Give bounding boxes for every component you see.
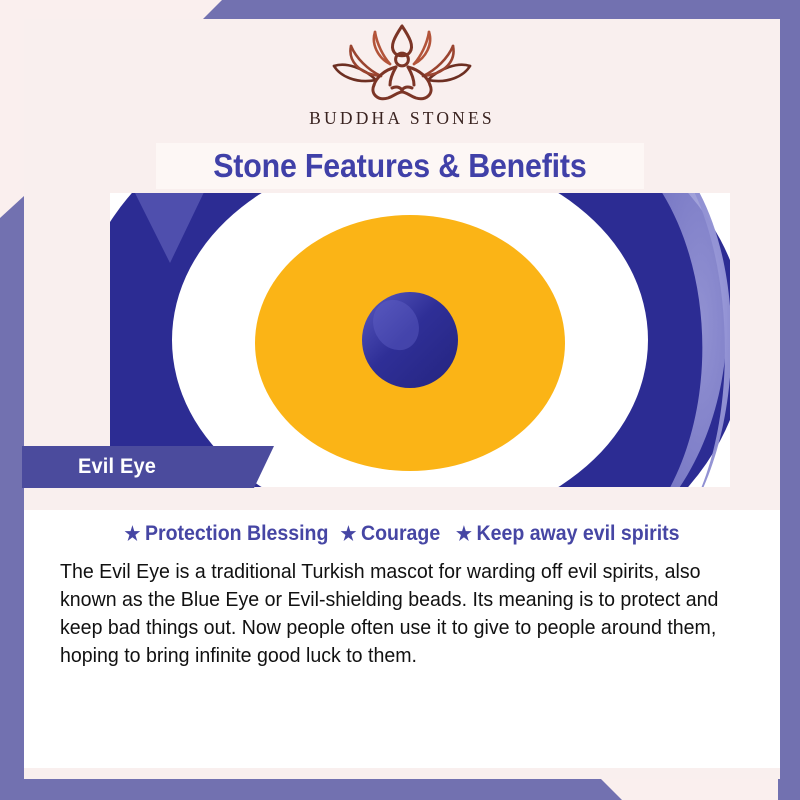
star-icon: ★ xyxy=(124,525,140,544)
frame-accent-left xyxy=(0,0,24,800)
frame-accent-top xyxy=(0,0,800,20)
benefit-item-protection-blessing: ★ Protection Blessing xyxy=(124,522,328,546)
brand-name: BUDDHA STONES xyxy=(309,108,495,129)
star-icon: ★ xyxy=(340,525,356,544)
benefit-label: Courage xyxy=(361,522,440,546)
page-title: Stone Features & Benefits xyxy=(213,147,586,185)
benefit-label: Protection Blessing xyxy=(145,522,328,546)
description-text: The Evil Eye is a traditional Turkish ma… xyxy=(60,558,751,670)
frame-accent-right xyxy=(778,0,800,800)
stone-name-banner: Evil Eye xyxy=(22,446,274,488)
benefit-label: Keep away evil spirits xyxy=(477,522,680,546)
content-card: ★ Protection Blessing ★ Courage ★ Keep a… xyxy=(24,510,780,768)
lotus-meditation-icon xyxy=(326,22,478,104)
star-icon: ★ xyxy=(456,525,472,544)
benefit-item-keep-away-evil-spirits: ★ Keep away evil spirits xyxy=(456,522,680,546)
brand-logo: BUDDHA STONES xyxy=(24,22,780,146)
evil-eye-bead-illustration xyxy=(110,193,730,487)
frame-accent-bottom xyxy=(0,778,800,800)
benefits-row: ★ Protection Blessing ★ Courage ★ Keep a… xyxy=(50,510,753,546)
stone-name-label: Evil Eye xyxy=(78,455,156,479)
benefit-item-courage: ★ Courage xyxy=(340,522,440,546)
title-bar: Stone Features & Benefits xyxy=(156,143,644,189)
infographic-page: BUDDHA STONES Stone Features & Benefits xyxy=(0,0,800,800)
